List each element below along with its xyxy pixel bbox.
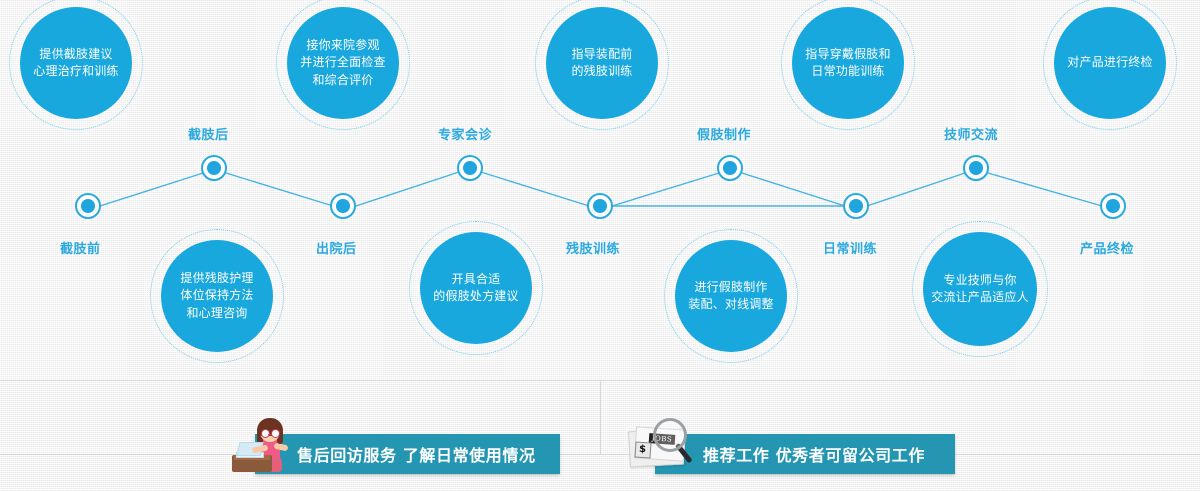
node-label-final-check: 产品终检 <box>1080 238 1134 257</box>
bubble-hospital-visit[interactable]: 接你来院参观 并进行全面检查 和综合评价 <box>287 7 399 119</box>
banner-baseline <box>0 454 1200 455</box>
bubble-line: 心理治疗和训练 <box>33 63 118 80</box>
bubble-line: 的残肢训练 <box>571 63 632 80</box>
banner-aftersales-text: 售后回访服务 了解日常使用情况 <box>297 442 536 466</box>
node-label-daily-training: 日常训练 <box>823 238 877 257</box>
dollar-symbol: $ <box>639 444 647 455</box>
node-label-expert-consultation: 专家会诊 <box>438 124 492 143</box>
link-n8-n9 <box>867 173 965 206</box>
link-n2-n3 <box>226 173 333 206</box>
bubble-wearing-guidance[interactable]: 指导穿戴假肢和 日常功能训练 <box>792 7 904 119</box>
woman-at-desk-icon <box>230 410 292 472</box>
bubble-pre-fitting-training[interactable]: 指导装配前 的残肢训练 <box>546 7 658 119</box>
node-post-discharge[interactable] <box>330 193 356 219</box>
node-label-pre-amputation: 截肢前 <box>60 238 101 257</box>
bubble-line: 装配、对线调整 <box>688 296 773 313</box>
link-n7-n8 <box>742 173 845 206</box>
bubble-technician-exchange[interactable]: 专业技师与你 交流让产品适应人 <box>923 232 1037 346</box>
bubble-line: 交流让产品适应人 <box>931 289 1029 306</box>
node-label-post-amputation: 截肢后 <box>188 124 229 143</box>
node-prosthesis-making[interactable] <box>717 155 743 181</box>
node-final-check[interactable] <box>1100 193 1126 219</box>
link-n6-n7 <box>612 173 719 206</box>
bubble-line: 和综合评价 <box>312 72 373 89</box>
node-dot <box>81 199 95 213</box>
node-label-stump-training: 残肢训练 <box>566 238 620 257</box>
magnifier-jobs-icon: JOBS $ <box>627 410 693 472</box>
bubble-final-inspection[interactable]: 对产品进行终检 <box>1054 7 1166 119</box>
bubble-prescription[interactable]: 开具合适 的假肢处方建议 <box>420 232 532 344</box>
bubble-line: 开具合适 <box>452 271 501 288</box>
banner-jobs[interactable]: JOBS $ 推荐工作 优秀者可留公司工作 <box>655 434 955 474</box>
bubble-line: 接你来院参观 <box>306 37 379 54</box>
bubble-line: 并进行全面检查 <box>300 54 385 71</box>
node-stump-training[interactable] <box>587 193 613 219</box>
bubble-line: 和心理咨询 <box>186 305 247 322</box>
bubble-stump-care[interactable]: 提供残肢护理 体位保持方法 和心理咨询 <box>161 240 273 352</box>
node-post-amputation[interactable] <box>201 155 227 181</box>
node-technician-exchange[interactable] <box>963 155 989 181</box>
node-dot <box>336 199 350 213</box>
node-label-prosthesis-making: 假肢制作 <box>697 124 751 143</box>
node-label-technician-exchange: 技师交流 <box>944 124 998 143</box>
bubble-line: 提供截肢建议 <box>39 46 112 63</box>
node-dot <box>969 161 983 175</box>
link-n1-n2 <box>100 173 203 206</box>
node-dot <box>849 199 863 213</box>
link-n3-n4 <box>356 172 459 206</box>
bubble-line: 专业技师与你 <box>943 272 1016 289</box>
link-n4-n5 <box>481 172 589 206</box>
bubble-line: 提供残肢护理 <box>180 270 253 287</box>
bubble-line: 指导穿戴假肢和 <box>805 46 890 63</box>
node-dot <box>207 161 221 175</box>
link-n9-n10 <box>988 173 1102 206</box>
node-label-post-discharge: 出院后 <box>316 238 357 257</box>
bubble-line: 进行假肢制作 <box>694 279 767 296</box>
bubble-line: 指导装配前 <box>571 46 632 63</box>
vertical-divider <box>600 380 601 454</box>
node-daily-training[interactable] <box>843 193 869 219</box>
node-dot <box>463 161 477 175</box>
bubble-manufacturing[interactable]: 进行假肢制作 装配、对线调整 <box>675 240 787 352</box>
banner-aftersales[interactable]: 售后回访服务 了解日常使用情况 <box>255 434 560 474</box>
node-dot <box>593 199 607 213</box>
page-canvas: 提供截肢建议 心理治疗和训练 接你来院参观 并进行全面检查 和综合评价 指导装配… <box>0 0 1200 492</box>
bubble-line: 日常功能训练 <box>811 63 884 80</box>
bubble-line: 对产品进行终检 <box>1067 54 1152 71</box>
node-expert-consultation[interactable] <box>457 155 483 181</box>
node-dot <box>1106 199 1120 213</box>
bubble-pre-amputation-advice[interactable]: 提供截肢建议 心理治疗和训练 <box>20 7 132 119</box>
node-pre-amputation[interactable] <box>75 193 101 219</box>
bubble-line: 的假肢处方建议 <box>433 288 518 305</box>
bubble-line: 体位保持方法 <box>180 287 253 304</box>
banner-jobs-text: 推荐工作 优秀者可留公司工作 <box>703 442 925 466</box>
node-dot <box>723 161 737 175</box>
